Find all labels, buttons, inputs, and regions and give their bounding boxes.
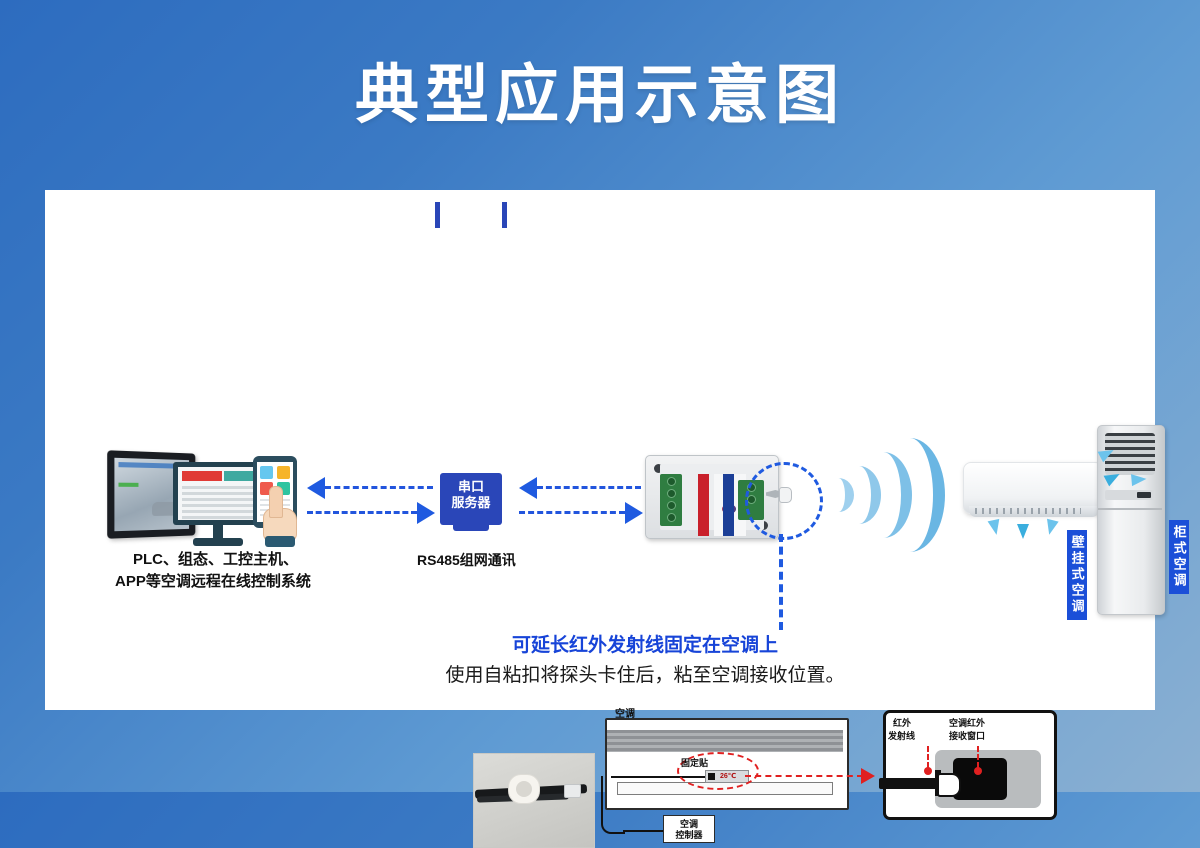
detail-label-left-line1: 红外 <box>893 718 911 729</box>
app-tile-2 <box>277 466 290 479</box>
arrow-left-to-server <box>519 477 537 499</box>
detail-label-right-line2: 接收窗口 <box>949 731 985 742</box>
device-label-red <box>698 474 709 536</box>
serial-server-label-1: 串口 <box>458 479 484 494</box>
diagram-controller-box: 空调 控制器 <box>663 815 715 843</box>
dashline-server-in <box>537 486 641 489</box>
airflow-arrow-1 <box>988 519 1003 536</box>
ir-highlight-circle <box>745 462 823 540</box>
dashline-pc-in <box>325 486 433 489</box>
detail-dot-right <box>974 767 982 775</box>
page-title: 典型应用示意图 <box>0 44 1200 136</box>
diagram-ac-grille <box>607 730 843 752</box>
cabinet-ac-display-panel <box>1105 490 1155 500</box>
monitor-stand-neck <box>213 525 223 538</box>
dashline-server-out <box>519 511 625 514</box>
monitor-header-bar-2 <box>224 471 254 481</box>
badge-cabinet-ac: 柜式空调 <box>1169 520 1189 594</box>
left-system-caption-line2: APP等空调远程在线控制系统 <box>115 570 311 591</box>
airflow-arrow-3 <box>1043 519 1058 536</box>
hand-pointer-illustration <box>263 486 297 544</box>
desktop-monitor <box>173 462 263 525</box>
dashline-pc-out <box>307 511 417 514</box>
serial-server-box: 串口 服务器 <box>440 473 502 525</box>
wall-ac-vent <box>975 508 1081 514</box>
center-note-highlight: 可延长红外发射线固定在空调上 <box>45 630 1200 657</box>
zoom-callout-line <box>745 775 863 777</box>
monitor-header-bar <box>182 471 222 481</box>
controller-box-line2: 控制器 <box>675 830 702 840</box>
server-ear-left <box>435 202 440 228</box>
detail-probe-tip <box>937 773 961 797</box>
cabinet-ac-seam <box>1098 508 1162 510</box>
sticker-label: 固定贴 <box>681 756 708 769</box>
diagram-controller-wire <box>623 830 665 832</box>
detail-label-left-line2: 发射线 <box>888 731 915 742</box>
controller-box-line1: 空调 <box>680 819 698 829</box>
zoom-callout-arrow <box>861 768 875 784</box>
callout-dashed-line <box>779 534 783 630</box>
monitor-table-rows <box>182 486 254 517</box>
center-note-detail: 使用自粘扣将探头卡住后，粘至空调接收位置。 <box>45 660 1200 687</box>
server-ear-right <box>502 202 507 228</box>
detail-leader-left <box>927 746 929 768</box>
app-tile-1 <box>260 466 273 479</box>
detail-ir-window <box>953 758 1007 800</box>
poster-root: 典型应用示意图 <box>0 0 1200 792</box>
diagram-cable-path <box>601 776 625 834</box>
terminal-block-left <box>660 474 682 526</box>
detail-leader-right <box>977 746 979 768</box>
monitor-screen <box>178 467 258 520</box>
server-foot <box>453 525 489 531</box>
photo-adhesive-clip <box>508 774 540 804</box>
arrow-left-to-pc <box>307 477 325 499</box>
diagram-card: PLC、组态、工控主机、 APP等空调远程在线控制系统 串口 服务器 RS485… <box>45 190 1155 710</box>
arrow-right-to-controller <box>625 502 643 524</box>
serial-server-caption: RS485组网通讯 <box>417 550 516 570</box>
airflow-arrow-2 <box>1017 524 1029 539</box>
detail-ir-cable <box>879 778 941 789</box>
photo-connector <box>564 784 581 798</box>
detail-dot-left <box>924 767 932 775</box>
left-system-caption-line1: PLC、组态、工控主机、 <box>133 548 298 569</box>
ir-wave-4 <box>875 438 945 552</box>
detail-label-right-line1: 空调红外 <box>949 718 985 729</box>
arrow-right-to-server <box>417 502 435 524</box>
serial-server-label-2: 服务器 <box>451 495 490 510</box>
monitor-stand-base <box>193 538 243 546</box>
badge-wall-mounted-ac: 壁挂式空调 <box>1067 530 1087 620</box>
cabinet-airflow-3 <box>1131 473 1147 486</box>
device-label-blue <box>723 474 734 536</box>
